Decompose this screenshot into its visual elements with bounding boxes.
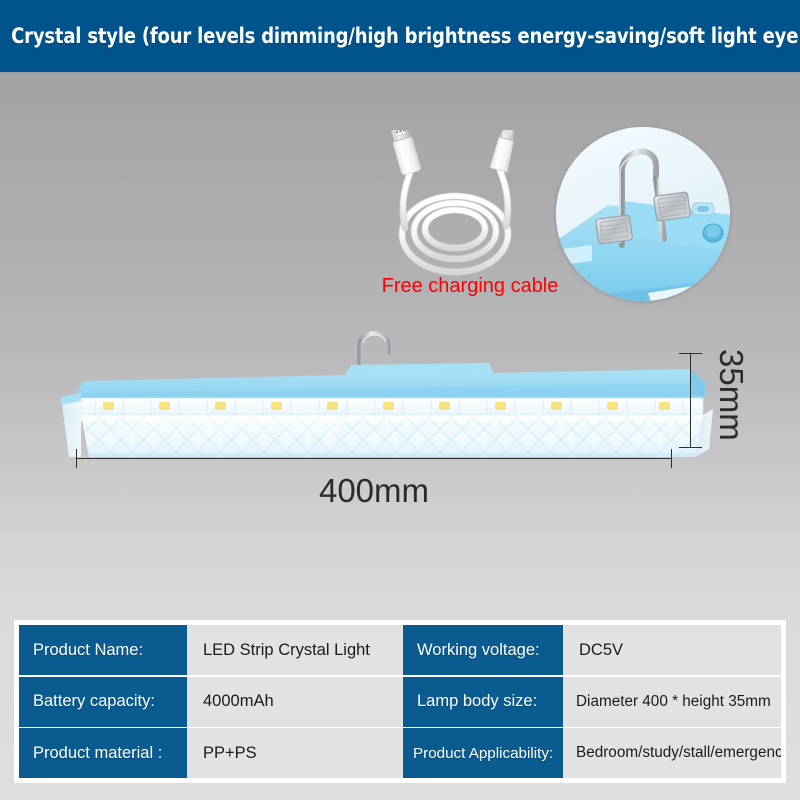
table-row: Product Name: LED Strip Crystal Light Wo…	[19, 625, 781, 675]
width-dimension-label: 400mm	[76, 472, 672, 510]
header-banner: Crystal style (four levels dimming/high …	[0, 0, 800, 72]
dimension-cap-bottom	[679, 447, 702, 448]
specification-table: Product Name: LED Strip Crystal Light Wo…	[14, 620, 786, 783]
spec-value-product-name: LED Strip Crystal Light	[187, 625, 403, 675]
free-charging-cable-label: Free charging cable	[380, 275, 560, 298]
led-strip-lamp-product	[55, 297, 715, 457]
spec-label-working-voltage: Working voltage:	[403, 625, 563, 675]
usb-cable-icon	[378, 130, 538, 290]
spec-value-product-applicability: Bedroom/study/stall/emergency	[563, 728, 781, 778]
height-dimension-label: 35mm	[712, 349, 750, 441]
table-row: Battery capacity: 4000mAh Lamp body size…	[19, 677, 781, 727]
height-dimension: 35mm	[690, 353, 691, 448]
spec-value-working-voltage: DC5V	[563, 625, 781, 675]
banner-title: Crystal style (four levels dimming/high …	[0, 24, 800, 49]
spec-label-product-material: Product material :	[19, 728, 187, 778]
dimension-line-vertical	[690, 353, 691, 448]
spec-value-battery-capacity: 4000mAh	[187, 677, 403, 727]
spec-value-product-material: PP+PS	[187, 728, 403, 778]
width-dimension: 400mm	[76, 458, 672, 459]
spec-label-battery-capacity: Battery capacity:	[19, 677, 187, 727]
spec-label-product-applicability: Product Applicability:	[403, 728, 563, 778]
spec-value-lamp-body-size: Diameter 400 * height 35mm	[563, 677, 781, 727]
spec-label-product-name: Product Name:	[19, 625, 187, 675]
product-infographic-page: Crystal style (four levels dimming/high …	[0, 0, 800, 800]
table-row: Product material : PP+PS Product Applica…	[19, 728, 781, 778]
product-stage: Free charging cable	[0, 72, 800, 600]
lamp-back-detail-inset	[556, 127, 730, 301]
spec-label-lamp-body-size: Lamp body size:	[403, 677, 563, 727]
dimension-line-horizontal	[76, 458, 672, 459]
dimension-cap-right	[671, 449, 672, 468]
